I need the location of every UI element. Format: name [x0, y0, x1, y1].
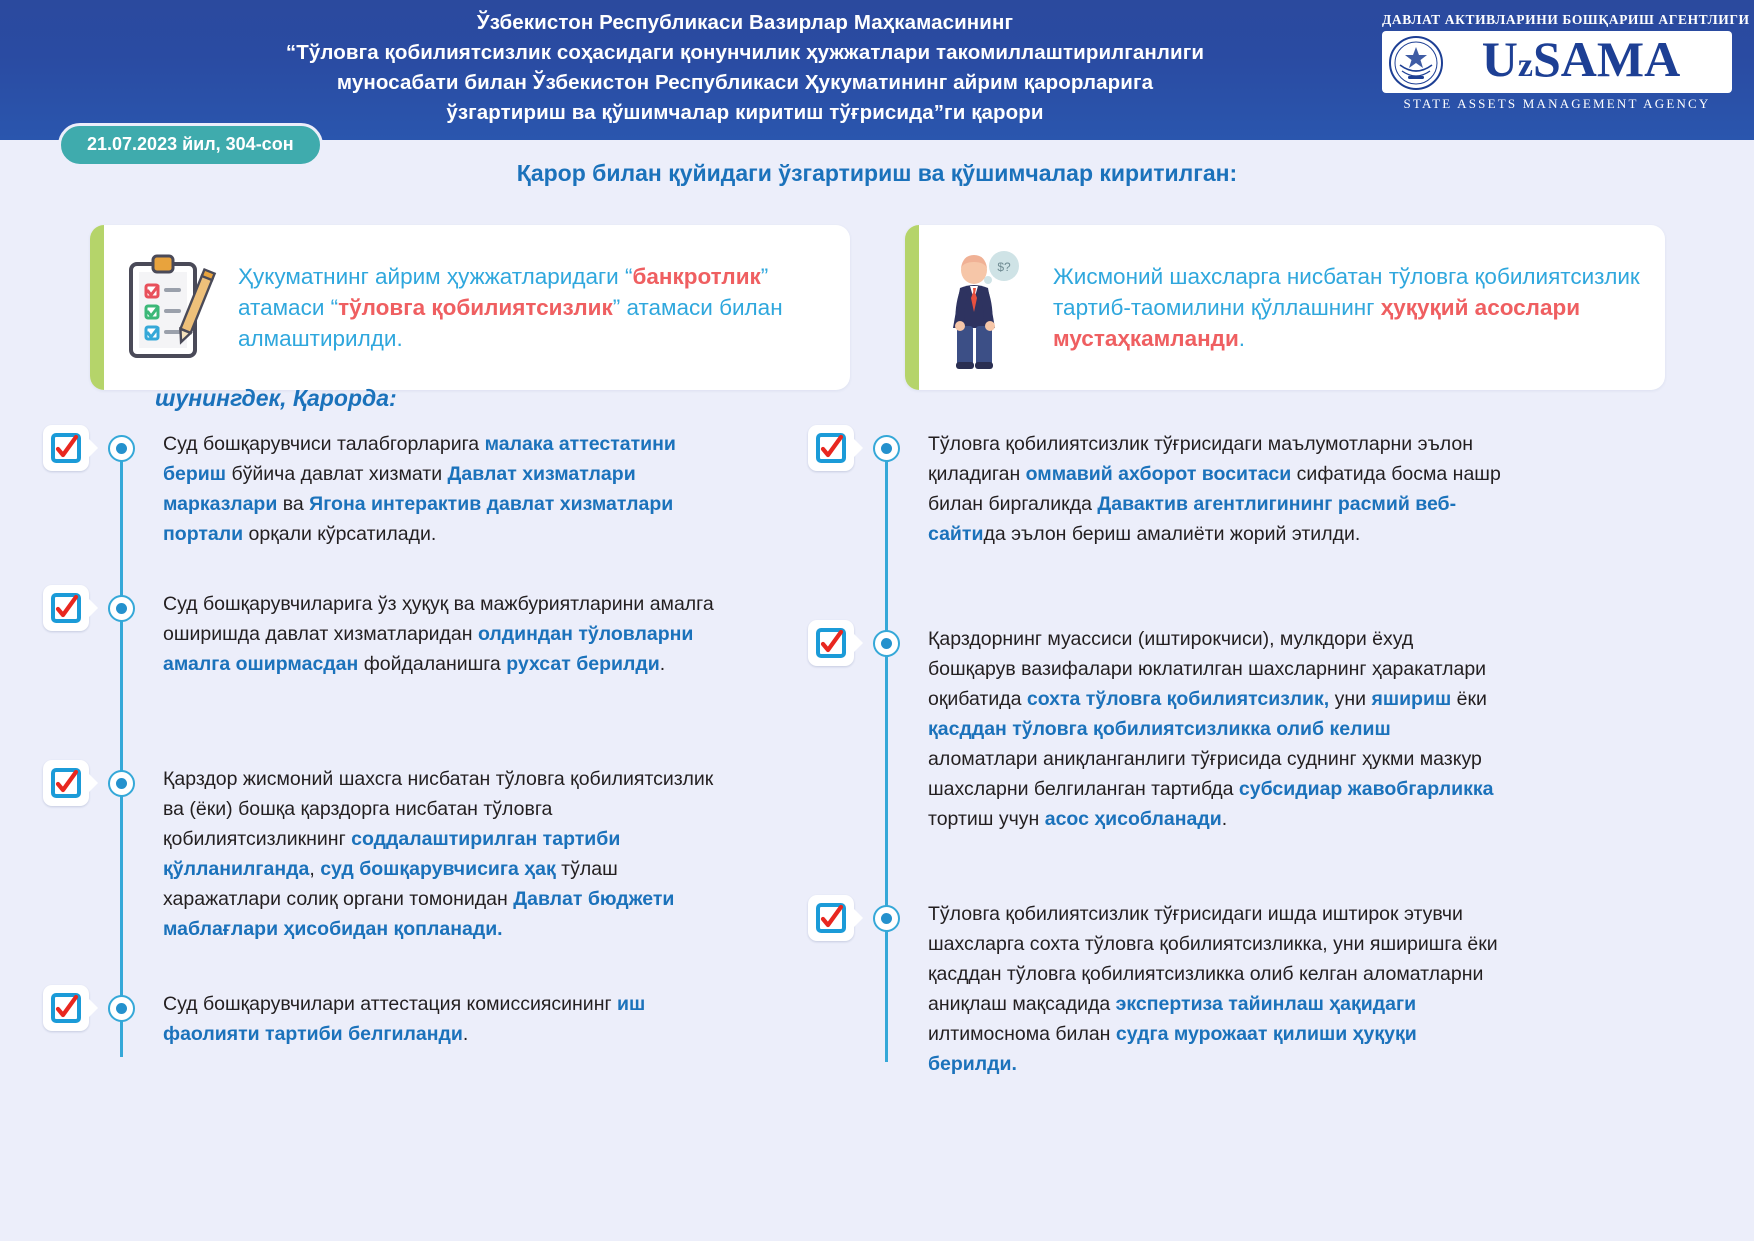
checkbox-checked-icon	[43, 985, 97, 1033]
left-item-text-3: Қарздор жисмоний шахсга нисбатан тўловга…	[163, 760, 755, 944]
svg-text:$?: $?	[997, 260, 1011, 274]
also-heading: шунингдек, Қарорда:	[155, 385, 397, 412]
infographic-page: Ўзбекистон Республикаси Вазирлар Маҳкама…	[0, 0, 1754, 1241]
list-item: Суд бошқарувчилари аттестация комиссияси…	[35, 985, 755, 1065]
checkbox-checked-icon	[43, 425, 97, 473]
businessman-thinking-icon: $?	[919, 243, 1049, 373]
left-item-text-2: Суд бошқарувчиларига ўз ҳуқуқ ва мажбури…	[163, 585, 755, 679]
left-item-text-4: Суд бошқарувчилари аттестация комиссияси…	[163, 985, 755, 1049]
timeline-dot-icon	[108, 595, 135, 622]
list-item: Тўловга қобилиятсизлик тўғрисидаги маълу…	[800, 425, 1520, 620]
card-accent-bar	[905, 225, 919, 390]
summary-cards: Ҳукуматнинг айрим ҳужжатларидаги “банкро…	[0, 225, 1754, 400]
logo-word-z: z	[1518, 47, 1533, 84]
checkbox-checked-icon	[808, 425, 862, 473]
card-accent-bar	[90, 225, 104, 390]
logo-bottom-text: STATE ASSETS MANAGEMENT AGENCY	[1382, 95, 1732, 113]
timeline-dot-icon	[873, 905, 900, 932]
right-timeline-column: Тўловга қобилиятсизлик тўғрисидаги маълу…	[800, 425, 1520, 1095]
logo-wordmark: UzSAMA	[1434, 31, 1680, 94]
timeline-dot-icon	[873, 435, 900, 462]
summary-card-terminology: Ҳукуматнинг айрим ҳужжатларидаги “банкро…	[90, 225, 850, 390]
logo-top-text: ДАВЛАТ АКТИВЛАРИНИ БОШҚАРИШ АГЕНТЛИГИ	[1382, 12, 1732, 28]
timeline-dot-icon	[108, 770, 135, 797]
list-item: Тўловга қобилиятсизлик тўғрисидаги ишда …	[800, 895, 1520, 1095]
timeline-dot-icon	[108, 435, 135, 462]
logo-word-u: U	[1482, 31, 1518, 87]
list-item: Суд бошқарувчиси талабгорларига малака а…	[35, 425, 755, 585]
uzsama-logo: ДАВЛАТ АКТИВЛАРИНИ БОШҚАРИШ АГЕНТЛИГИ Uz…	[1382, 12, 1732, 124]
card-text-individuals: Жисмоний шахсларга нисбатан тўловга қоби…	[1049, 261, 1665, 354]
list-item: Қарздор жисмоний шахсга нисбатан тўловга…	[35, 760, 755, 985]
clipboard-checklist-icon	[104, 243, 234, 373]
right-item-text-3: Тўловга қобилиятсизлик тўғрисидаги ишда …	[928, 895, 1520, 1079]
page-header: Ўзбекистон Республикаси Вазирлар Маҳкама…	[0, 0, 1754, 140]
date-badge: 21.07.2023 йил, 304-сон	[58, 123, 323, 167]
page-title-line-4: ўзгартириш ва қўшимчалар киритиш тўғриси…	[180, 98, 1310, 128]
checkbox-checked-icon	[43, 585, 97, 633]
uzbekistan-emblem-icon	[1388, 35, 1444, 91]
checkbox-checked-icon	[43, 760, 97, 808]
logo-word-sama: SAMA	[1533, 31, 1680, 87]
page-title-line-2: “Тўловга қобилиятсизлик соҳасидаги қонун…	[180, 38, 1310, 68]
checkbox-checked-icon	[808, 895, 862, 943]
list-item: Қарздорнинг муассиси (иштирокчиси), мулк…	[800, 620, 1520, 895]
left-item-text-1: Суд бошқарувчиси талабгорларига малака а…	[163, 425, 755, 549]
summary-card-individuals: $? Жисмоний шахсларга ни	[905, 225, 1665, 390]
card-text-terminology: Ҳукуматнинг айрим ҳужжатларидаги “банкро…	[234, 261, 850, 354]
list-item: Суд бошқарувчиларига ўз ҳуқуқ ва мажбури…	[35, 585, 755, 760]
checkbox-checked-icon	[808, 620, 862, 668]
timeline-dot-icon	[108, 995, 135, 1022]
left-timeline-column: Суд бошқарувчиси талабгорларига малака а…	[35, 425, 755, 1065]
page-title-line-1: Ўзбекистон Республикаси Вазирлар Маҳкама…	[180, 8, 1310, 38]
timeline-dot-icon	[873, 630, 900, 657]
right-item-text-1: Тўловга қобилиятсизлик тўғрисидаги маълу…	[928, 425, 1520, 549]
page-title-line-3: муносабати билан Ўзбекистон Республикаси…	[180, 68, 1310, 98]
right-item-text-2: Қарздорнинг муассиси (иштирокчиси), мулк…	[928, 620, 1520, 834]
page-title: Ўзбекистон Республикаси Вазирлар Маҳкама…	[180, 8, 1310, 128]
logo-wordmark-plate: UzSAMA	[1382, 31, 1732, 93]
